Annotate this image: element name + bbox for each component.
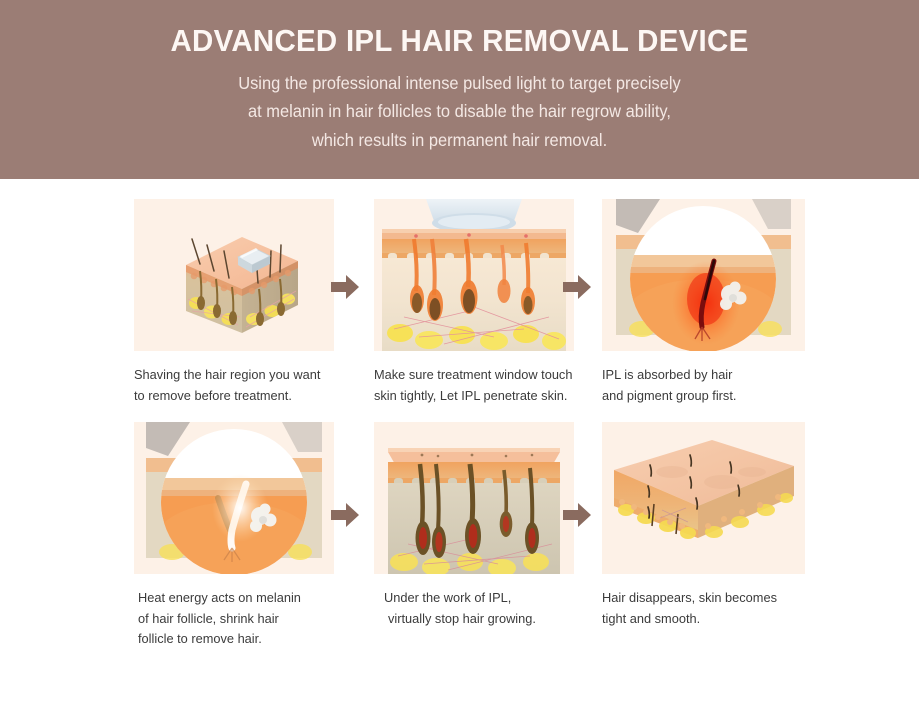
caption-line: Shaving the hair region you want bbox=[134, 365, 346, 386]
right-arrow-icon bbox=[563, 502, 591, 528]
heat-shrinks-follicle-magnified-illustration bbox=[134, 422, 334, 574]
follicles-stopped-growing-illustration bbox=[374, 422, 574, 574]
skin-block-with-razor-illustration bbox=[134, 199, 334, 351]
device-window-on-skin-illustration bbox=[374, 199, 574, 351]
subtitle-line-3: which results in permanent hair removal. bbox=[28, 126, 892, 154]
step-4-caption: Heat energy acts on melanin of hair foll… bbox=[134, 588, 346, 650]
page-title: ADVANCED IPL HAIR REMOVAL DEVICE bbox=[23, 22, 896, 60]
caption-line: skin tightly, Let IPL penetrate skin. bbox=[374, 386, 586, 407]
caption-line: Hair disappears, skin becomes bbox=[602, 588, 814, 609]
right-arrow-icon bbox=[331, 502, 359, 528]
subtitle-line-2: at melanin in hair follicles to disable … bbox=[28, 97, 892, 125]
caption-line: of hair follicle, shrink hair bbox=[138, 609, 346, 630]
caption-line: Make sure treatment window touch bbox=[374, 365, 586, 386]
caption-line: Heat energy acts on melanin bbox=[138, 588, 346, 609]
header-banner: ADVANCED IPL HAIR REMOVAL DEVICE Using t… bbox=[0, 0, 919, 179]
page-subtitle: Using the professional intense pulsed li… bbox=[28, 69, 892, 154]
caption-line: IPL is absorbed by hair bbox=[602, 365, 814, 386]
right-arrow-icon bbox=[331, 274, 359, 300]
step-1: Shaving the hair region you want to remo… bbox=[134, 199, 346, 406]
caption-line: tight and smooth. bbox=[602, 609, 814, 630]
caption-line: Under the work of IPL, bbox=[384, 588, 586, 609]
step-2-caption: Make sure treatment window touch skin ti… bbox=[374, 365, 586, 406]
right-arrow-icon bbox=[563, 274, 591, 300]
step-6: Hair disappears, skin becomes tight and … bbox=[602, 422, 814, 629]
subtitle-line-1: Using the professional intense pulsed li… bbox=[28, 69, 892, 97]
step-2: Make sure treatment window touch skin ti… bbox=[374, 199, 586, 406]
step-5-caption: Under the work of IPL, virtually stop ha… bbox=[374, 588, 586, 629]
infographic-page: ADVANCED IPL HAIR REMOVAL DEVICE Using t… bbox=[0, 0, 919, 707]
steps-row-bottom: Heat energy acts on melanin of hair foll… bbox=[0, 422, 919, 662]
steps-area: Shaving the hair region you want to remo… bbox=[0, 179, 919, 707]
caption-line: follicle to remove hair. bbox=[138, 629, 346, 650]
step-1-caption: Shaving the hair region you want to remo… bbox=[134, 365, 346, 406]
step-3-caption: IPL is absorbed by hair and pigment grou… bbox=[602, 365, 814, 406]
ipl-absorbed-by-hair-magnified-illustration bbox=[602, 199, 805, 351]
step-6-caption: Hair disappears, skin becomes tight and … bbox=[602, 588, 814, 629]
caption-line: and pigment group first. bbox=[602, 386, 814, 407]
steps-row-top: Shaving the hair region you want to remo… bbox=[0, 199, 919, 424]
step-4: Heat energy acts on melanin of hair foll… bbox=[134, 422, 346, 650]
step-5: Under the work of IPL, virtually stop ha… bbox=[374, 422, 586, 629]
step-3: IPL is absorbed by hair and pigment grou… bbox=[602, 199, 814, 406]
caption-line: to remove before treatment. bbox=[134, 386, 346, 407]
caption-line: virtually stop hair growing. bbox=[384, 609, 586, 630]
smooth-skin-result-illustration bbox=[602, 422, 805, 574]
